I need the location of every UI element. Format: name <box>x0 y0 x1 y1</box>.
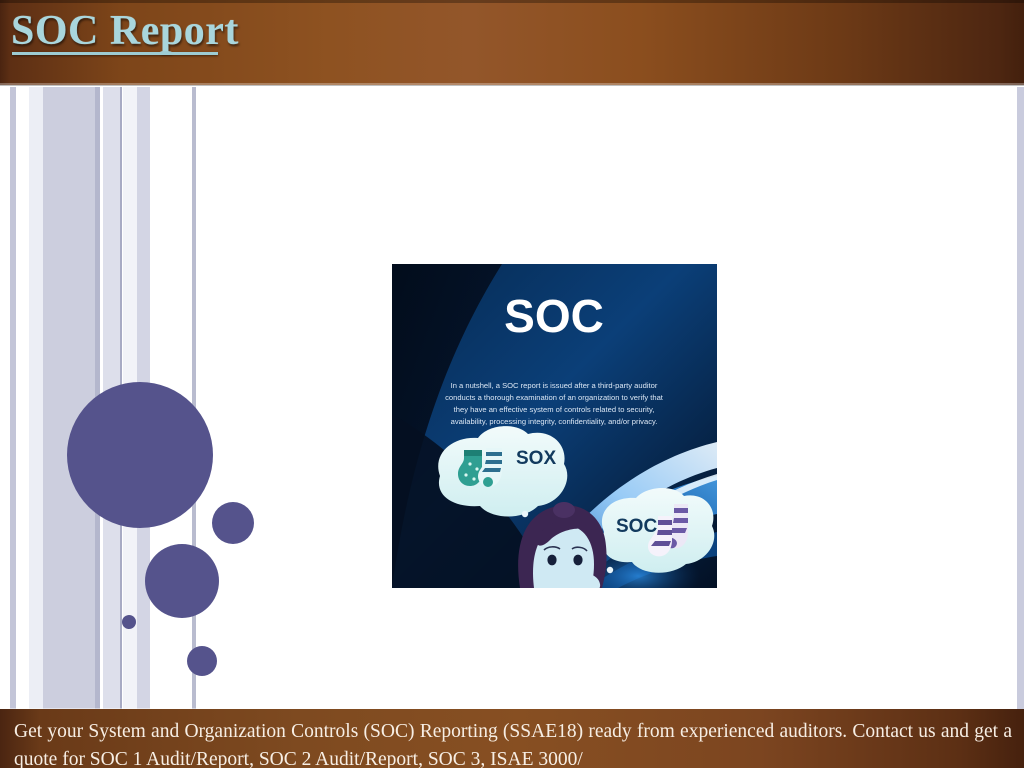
bubble-trail-dot <box>607 567 613 573</box>
graphic-body-line-2: conducts a thorough examination of an or… <box>445 393 664 402</box>
graphic-body-line-4: availability, processing integrity, conf… <box>451 417 658 426</box>
header-bottom-highlight <box>0 83 1024 85</box>
soc-infographic-svg: SOC In a nutshell, a SOC report is issue… <box>392 264 717 588</box>
decorative-circle-xsmall <box>187 646 217 676</box>
thought-bubble-sox-label: SOX <box>516 448 556 469</box>
person-eye-left <box>547 555 556 566</box>
page-title-underline <box>12 52 218 55</box>
header-band: SOC Report <box>0 0 1024 85</box>
header-top-highlight <box>0 0 1024 3</box>
footer-band: Get your System and Organization Control… <box>0 709 1024 768</box>
soc-infographic-image: SOC In a nutshell, a SOC report is issue… <box>392 264 717 588</box>
graphic-body-line-1: In a nutshell, a SOC report is issued af… <box>451 381 658 390</box>
stripe-3 <box>43 87 95 709</box>
person-eye-right <box>573 555 582 566</box>
thought-bubble-soc-label: SOC <box>616 516 657 537</box>
decorative-circle-dot <box>122 615 136 629</box>
decorative-circle-small <box>212 502 254 544</box>
page-title: SOC Report <box>11 6 239 56</box>
stripe-1 <box>10 87 16 709</box>
person-hair-bun <box>553 502 575 518</box>
footer-caption: Get your System and Organization Control… <box>14 718 1012 768</box>
graphic-heading: SOC <box>504 290 604 342</box>
bubble-trail-dot <box>522 511 528 517</box>
stripe-10 <box>1017 87 1024 709</box>
stripe-2 <box>29 87 43 709</box>
decorative-circle-large <box>67 382 213 528</box>
slide-canvas: SOC Report <box>0 0 1024 768</box>
decorative-circle-medium <box>145 544 219 618</box>
graphic-body-line-3: they have an effective system of control… <box>454 405 655 414</box>
